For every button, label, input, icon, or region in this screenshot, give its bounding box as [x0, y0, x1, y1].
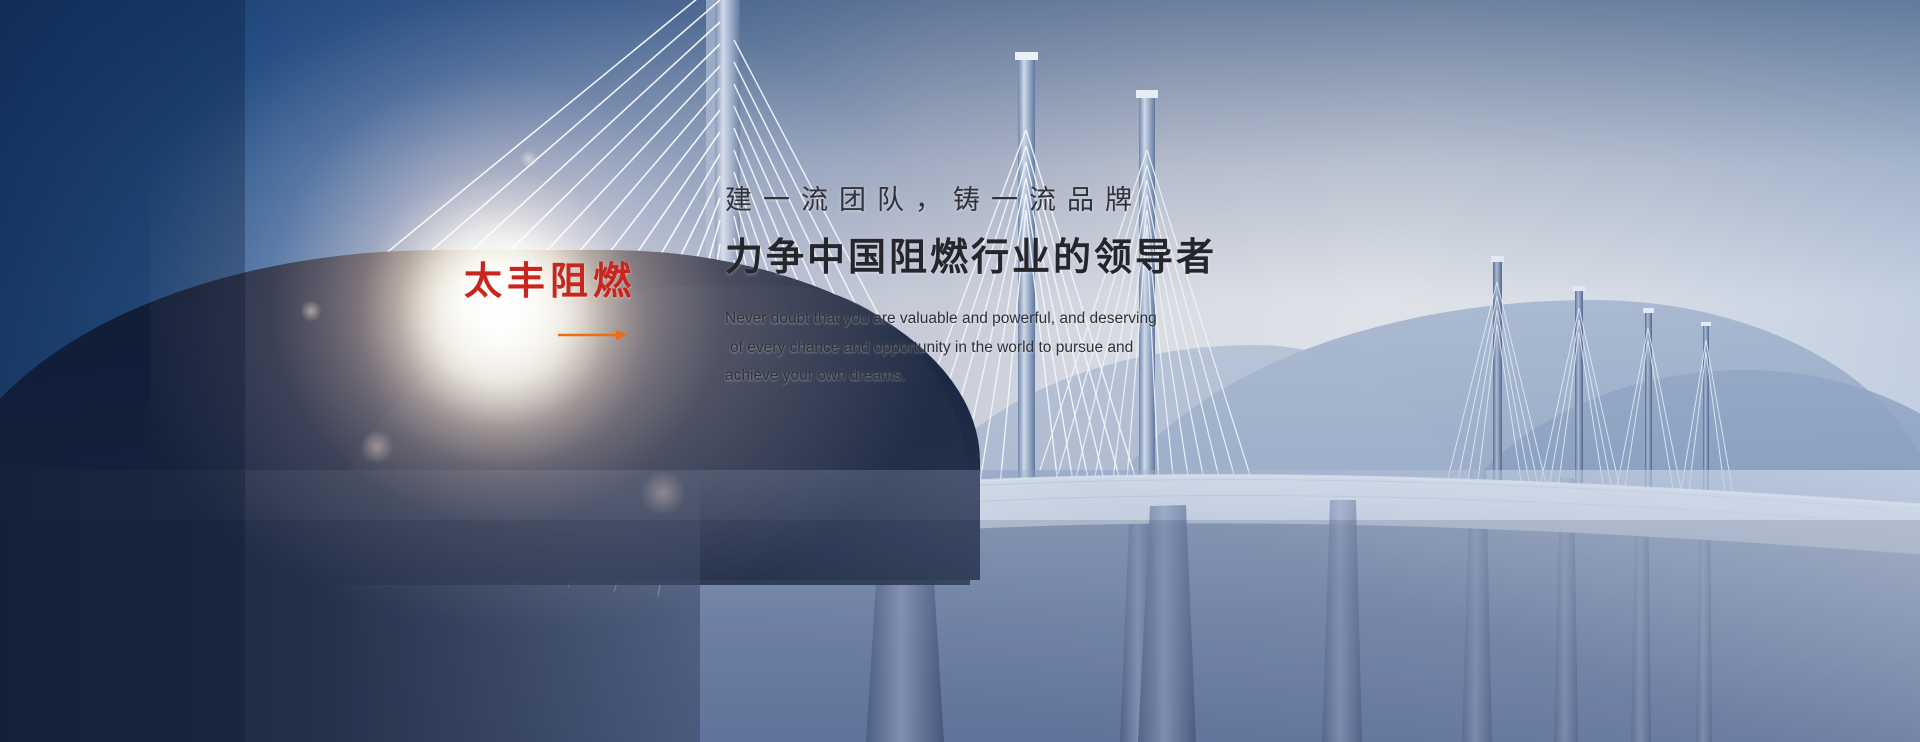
sun-core — [352, 176, 652, 468]
blurb-line-2: of every chance and opportunity in the w… — [725, 334, 1185, 362]
blurb-line-3: achieve your own dreams. — [725, 362, 1185, 390]
hero-banner: 太丰阻燃 建一流团队，铸一流品牌 力争中国阻燃行业的领导者 Never doub… — [0, 0, 1920, 742]
blurb-line-1: Never doubt that you are valuable and po… — [725, 305, 1185, 333]
brand-logo-text: 太丰阻燃 — [464, 262, 644, 300]
hero-copy: 建一流团队，铸一流品牌 力争中国阻燃行业的领导者 Never doubt tha… — [725, 186, 1425, 390]
brand-logo[interactable]: 太丰阻燃 — [464, 262, 644, 300]
arrow-right-icon — [558, 328, 628, 342]
hero-blurb: Never doubt that you are valuable and po… — [725, 305, 1185, 390]
bottom-overlay — [0, 520, 1920, 742]
headline-sub: 建一流团队，铸一流品牌 — [725, 186, 1425, 216]
headline-main: 力争中国阻燃行业的领导者 — [725, 238, 1425, 280]
